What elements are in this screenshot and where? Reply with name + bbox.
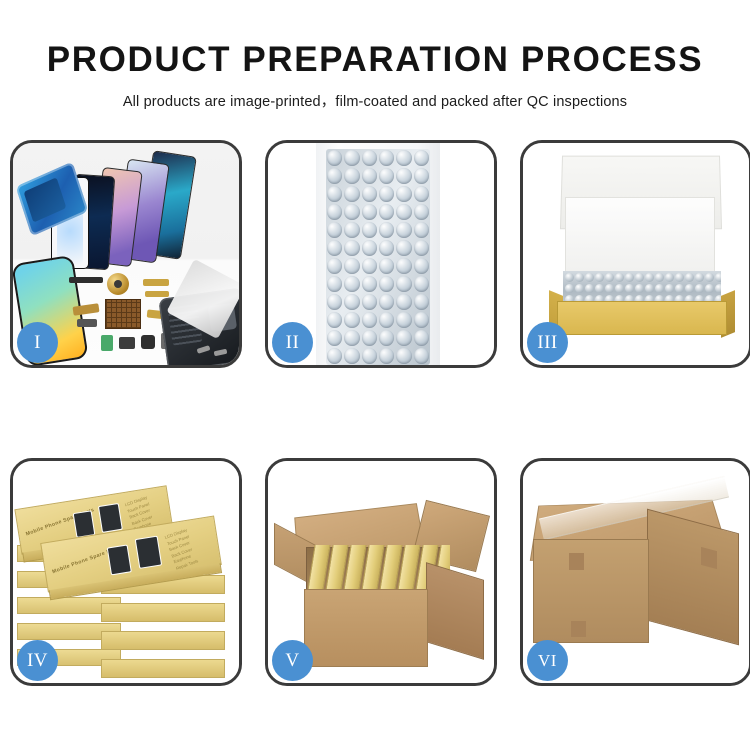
bubble	[715, 273, 721, 282]
bubble	[327, 330, 342, 346]
bubble	[327, 348, 342, 364]
bubble	[344, 168, 359, 184]
bubble	[665, 273, 674, 282]
process-step-card-5: V	[265, 458, 497, 686]
step-badge-1: I	[17, 322, 58, 363]
bubble	[655, 273, 664, 282]
carton-mark	[569, 553, 584, 570]
bubble	[595, 284, 604, 293]
bubble	[414, 168, 429, 184]
process-step-card-3: III	[520, 140, 750, 368]
bubble	[396, 294, 411, 310]
bubble	[362, 150, 377, 166]
bubble	[655, 284, 664, 293]
bubble	[344, 186, 359, 202]
bubble	[715, 284, 721, 293]
bubble	[327, 294, 342, 310]
bubble	[396, 330, 411, 346]
bubble	[379, 330, 394, 346]
speaker-coil-icon	[107, 273, 129, 295]
bubble	[379, 294, 394, 310]
bubble	[695, 273, 704, 282]
bubble	[379, 258, 394, 274]
carton-mark	[571, 621, 586, 637]
bubble	[414, 294, 429, 310]
bubble	[625, 273, 634, 282]
bubble	[344, 312, 359, 328]
step-badge-2: II	[272, 322, 313, 363]
flex-cable-icon	[69, 277, 103, 283]
bubble	[327, 186, 342, 202]
process-step-card-6: VI	[520, 458, 750, 686]
bubble-wrap-sleeve	[316, 143, 440, 365]
step-badge-4: IV	[17, 640, 58, 681]
bubble	[615, 273, 624, 282]
process-step-card-1: I	[10, 140, 242, 368]
bubble	[362, 312, 377, 328]
carton-front-panel	[304, 589, 428, 667]
bubble	[645, 273, 654, 282]
flex-cable-icon	[143, 279, 169, 286]
bubble	[327, 312, 342, 328]
bubble-grid	[326, 149, 430, 365]
bubble	[396, 186, 411, 202]
bubble	[379, 240, 394, 256]
bubble	[362, 330, 377, 346]
bubble	[362, 240, 377, 256]
bubble	[705, 284, 714, 293]
speaker-icon	[141, 335, 155, 349]
bubble-wrapped-contents-icon	[563, 271, 721, 305]
bubble	[685, 284, 694, 293]
chip-grid-icon	[105, 299, 141, 329]
bubble	[379, 168, 394, 184]
bubble	[595, 273, 604, 282]
step-badge-3: III	[527, 322, 568, 363]
bubble	[362, 294, 377, 310]
bubble	[379, 186, 394, 202]
bubble	[565, 273, 574, 282]
step-badge-6: VI	[527, 640, 568, 681]
bubble	[379, 276, 394, 292]
bubble	[362, 222, 377, 238]
bubble	[575, 284, 584, 293]
bubble	[665, 284, 674, 293]
bubble	[396, 348, 411, 364]
connector-icon	[77, 319, 97, 327]
bubble	[605, 284, 614, 293]
bubble	[695, 284, 704, 293]
bubble	[645, 284, 654, 293]
bubble	[344, 222, 359, 238]
bubble	[414, 348, 429, 364]
bubble	[396, 150, 411, 166]
bubble	[344, 348, 359, 364]
kraft-box-slab	[101, 659, 225, 678]
kraft-box-slab	[101, 603, 225, 622]
bubble	[585, 284, 594, 293]
bubble	[396, 276, 411, 292]
flex-cable-icon	[145, 291, 169, 297]
bubble	[327, 258, 342, 274]
bubble	[362, 204, 377, 220]
bubble	[327, 276, 342, 292]
bubble	[327, 168, 342, 184]
bubble	[565, 284, 574, 293]
battery-icon	[101, 335, 113, 351]
bubble	[344, 240, 359, 256]
bubble	[575, 273, 584, 282]
bubble	[414, 150, 429, 166]
bubble	[675, 273, 684, 282]
bubble	[414, 186, 429, 202]
camera-module-icon	[119, 337, 135, 349]
bubble-wrap-surface	[326, 149, 430, 365]
bubble	[327, 222, 342, 238]
header: PRODUCT PREPARATION PROCESS All products…	[0, 0, 750, 111]
process-step-card-4: Mobile Phone Spare Parts LCD Display Tou…	[10, 458, 242, 686]
bubble	[396, 312, 411, 328]
bubble	[675, 284, 684, 293]
bubble	[396, 240, 411, 256]
box-checklist: LCD Display Touch Panel Back Cover Back …	[164, 527, 199, 572]
bubble	[414, 240, 429, 256]
bubble	[414, 276, 429, 292]
bubble	[396, 168, 411, 184]
bubble	[327, 240, 342, 256]
bubble	[414, 312, 429, 328]
product-preparation-process-page: PRODUCT PREPARATION PROCESS All products…	[0, 0, 750, 750]
page-subtitle: All products are image-printed，film-coat…	[0, 77, 750, 111]
bubble	[379, 348, 394, 364]
bubble	[396, 204, 411, 220]
box-window-screen	[135, 536, 162, 569]
bubble	[344, 276, 359, 292]
bubble	[705, 273, 714, 282]
kraft-box-slab	[101, 631, 225, 650]
bubble	[414, 204, 429, 220]
carton-front-panel	[533, 539, 649, 643]
box-window-screen	[107, 544, 132, 575]
bubble	[414, 258, 429, 274]
bubble	[379, 312, 394, 328]
bubble	[344, 258, 359, 274]
bubble	[362, 258, 377, 274]
process-step-grid: I II III	[10, 140, 740, 685]
screws-icon	[197, 345, 231, 359]
bubble	[396, 222, 411, 238]
box-front-panel	[557, 301, 727, 335]
step-badge-5: V	[272, 640, 313, 681]
page-title: PRODUCT PREPARATION PROCESS	[0, 0, 750, 77]
bubble	[344, 330, 359, 346]
bubble	[362, 276, 377, 292]
carton-side-panel	[426, 562, 484, 660]
bubble	[685, 273, 694, 282]
bubble	[414, 330, 429, 346]
bubble	[635, 273, 644, 282]
bubble	[327, 204, 342, 220]
bubble	[414, 222, 429, 238]
bubble	[362, 168, 377, 184]
foam-sheet-icon	[565, 197, 715, 277]
bubble	[379, 222, 394, 238]
bubble	[362, 348, 377, 364]
bubble	[344, 150, 359, 166]
bubble	[379, 204, 394, 220]
bubble	[344, 294, 359, 310]
bubble	[344, 204, 359, 220]
carton-side-panel	[647, 509, 739, 646]
bubble	[327, 150, 342, 166]
box-window-screen	[98, 503, 123, 533]
process-step-card-2: II	[265, 140, 497, 368]
bubble	[396, 258, 411, 274]
bubble	[379, 150, 394, 166]
bubble	[585, 273, 594, 282]
bubble	[625, 284, 634, 293]
bubble	[635, 284, 644, 293]
bubble	[362, 186, 377, 202]
bubble	[615, 284, 624, 293]
bubble	[605, 273, 614, 282]
